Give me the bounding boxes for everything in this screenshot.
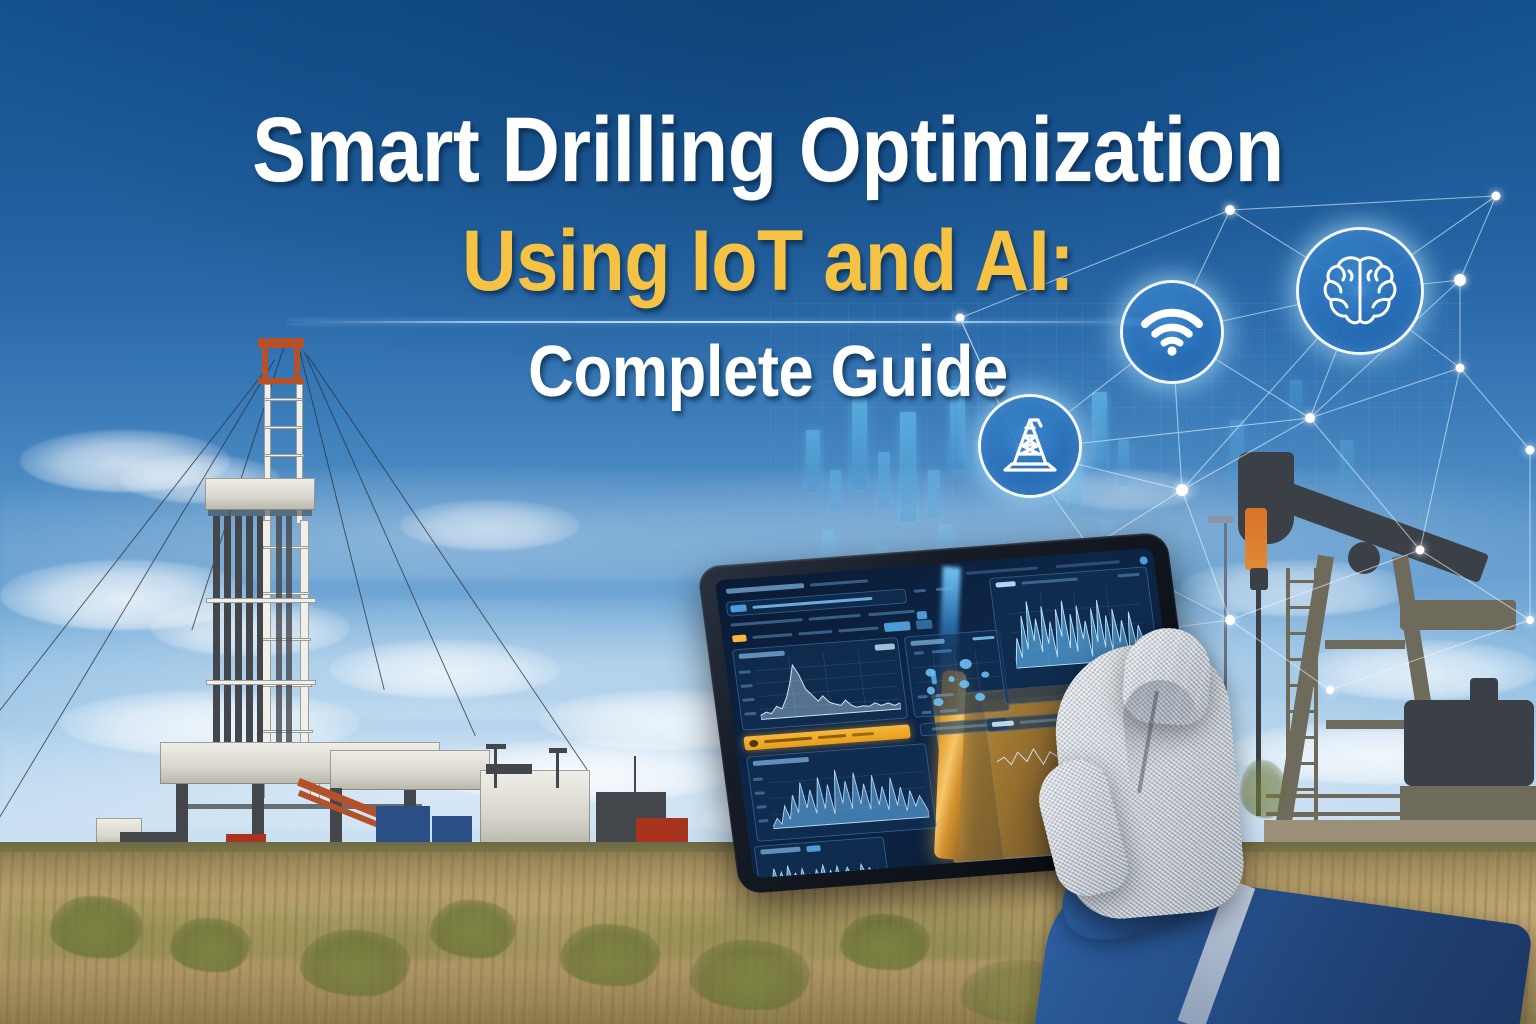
rop-trend-chart xyxy=(753,647,901,723)
topbar-status-chip[interactable] xyxy=(1139,556,1148,565)
vibration-chart xyxy=(765,755,929,832)
filter-label-3 xyxy=(838,627,878,633)
headline-line-3: Complete Guide xyxy=(92,336,1444,408)
nav-row-2 xyxy=(730,618,802,626)
topbar-meta-2 xyxy=(1056,560,1120,568)
readout-indicator-1 xyxy=(916,611,927,620)
dashboard-subtitle xyxy=(810,579,868,586)
mud-pulse-chip[interactable] xyxy=(806,845,821,852)
topbar-meta xyxy=(966,566,1038,574)
nav-row-4 xyxy=(868,610,914,616)
dashboard-title xyxy=(726,583,805,594)
nav-chip[interactable] xyxy=(730,604,747,612)
parameter-matrix-chart xyxy=(912,648,1003,712)
filter-label-1 xyxy=(752,633,792,639)
filter-chip-1[interactable] xyxy=(732,634,747,642)
derrick-glyph xyxy=(997,415,1063,477)
filter-chip-2[interactable] xyxy=(884,621,911,632)
filter-label-2 xyxy=(798,630,832,636)
hero-banner: Smart Drilling Optimization Using IoT an… xyxy=(0,0,1536,1024)
readout-1 xyxy=(914,589,926,593)
headline-divider xyxy=(288,321,1154,323)
nav-row-3 xyxy=(808,614,860,621)
filter-chip-3[interactable] xyxy=(916,619,933,629)
headline-line-2: Using IoT and AI: xyxy=(92,218,1444,304)
headline-line-1: Smart Drilling Optimization xyxy=(92,104,1444,196)
